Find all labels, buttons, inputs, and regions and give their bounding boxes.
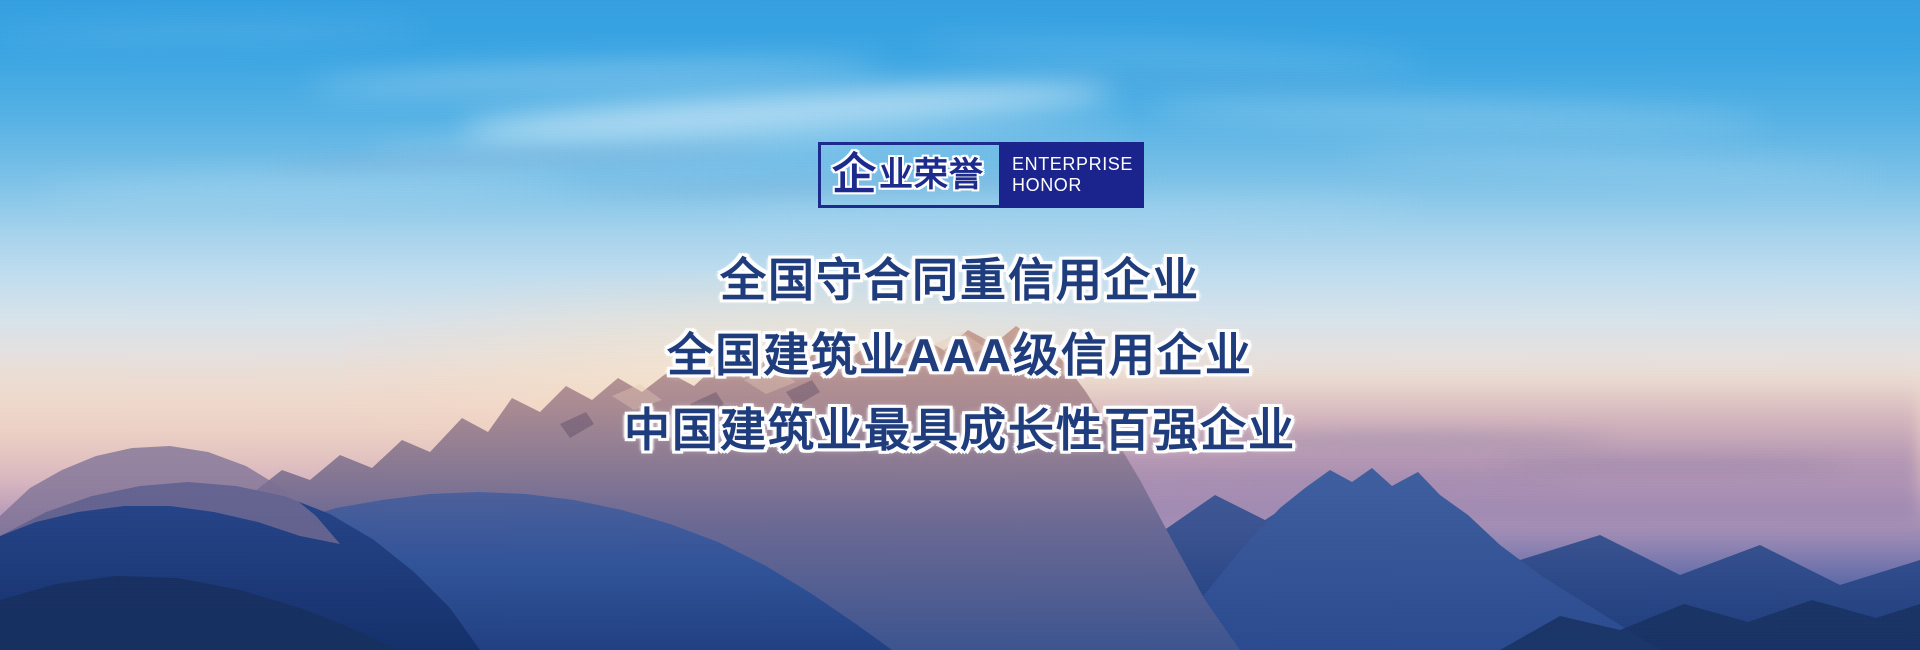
logo-english-line-1: ENTERPRISE [1012,154,1144,175]
headline-line-2: 全国建筑业AAA级信用企业 [667,318,1253,393]
logo-chars-rest: 业荣誉 [879,156,984,194]
headline-group: 全国守合同重信用企业 全国建筑业AAA级信用企业 中国建筑业最具成长性百强企业 [0,243,1920,468]
banner-content: 企业荣誉 ENTERPRISE HONOR 全国守合同重信用企业 全国建筑业AA… [0,0,1920,650]
logo-english-box: ENTERPRISE HONOR [999,142,1144,208]
headline-line-3: 中国建筑业最具成长性百强企业 [624,393,1296,468]
logo-char-qi: 企 [832,150,877,199]
logo-chinese-title: 企业荣誉 [832,153,984,197]
logo-english-line-2: HONOR [1012,175,1144,196]
enterprise-honor-logo: 企业荣誉 ENTERPRISE HONOR [818,142,1144,208]
headline-line-1: 全国守合同重信用企业 [720,243,1200,318]
enterprise-honor-banner: 企业荣誉 ENTERPRISE HONOR 全国守合同重信用企业 全国建筑业AA… [0,0,1920,650]
